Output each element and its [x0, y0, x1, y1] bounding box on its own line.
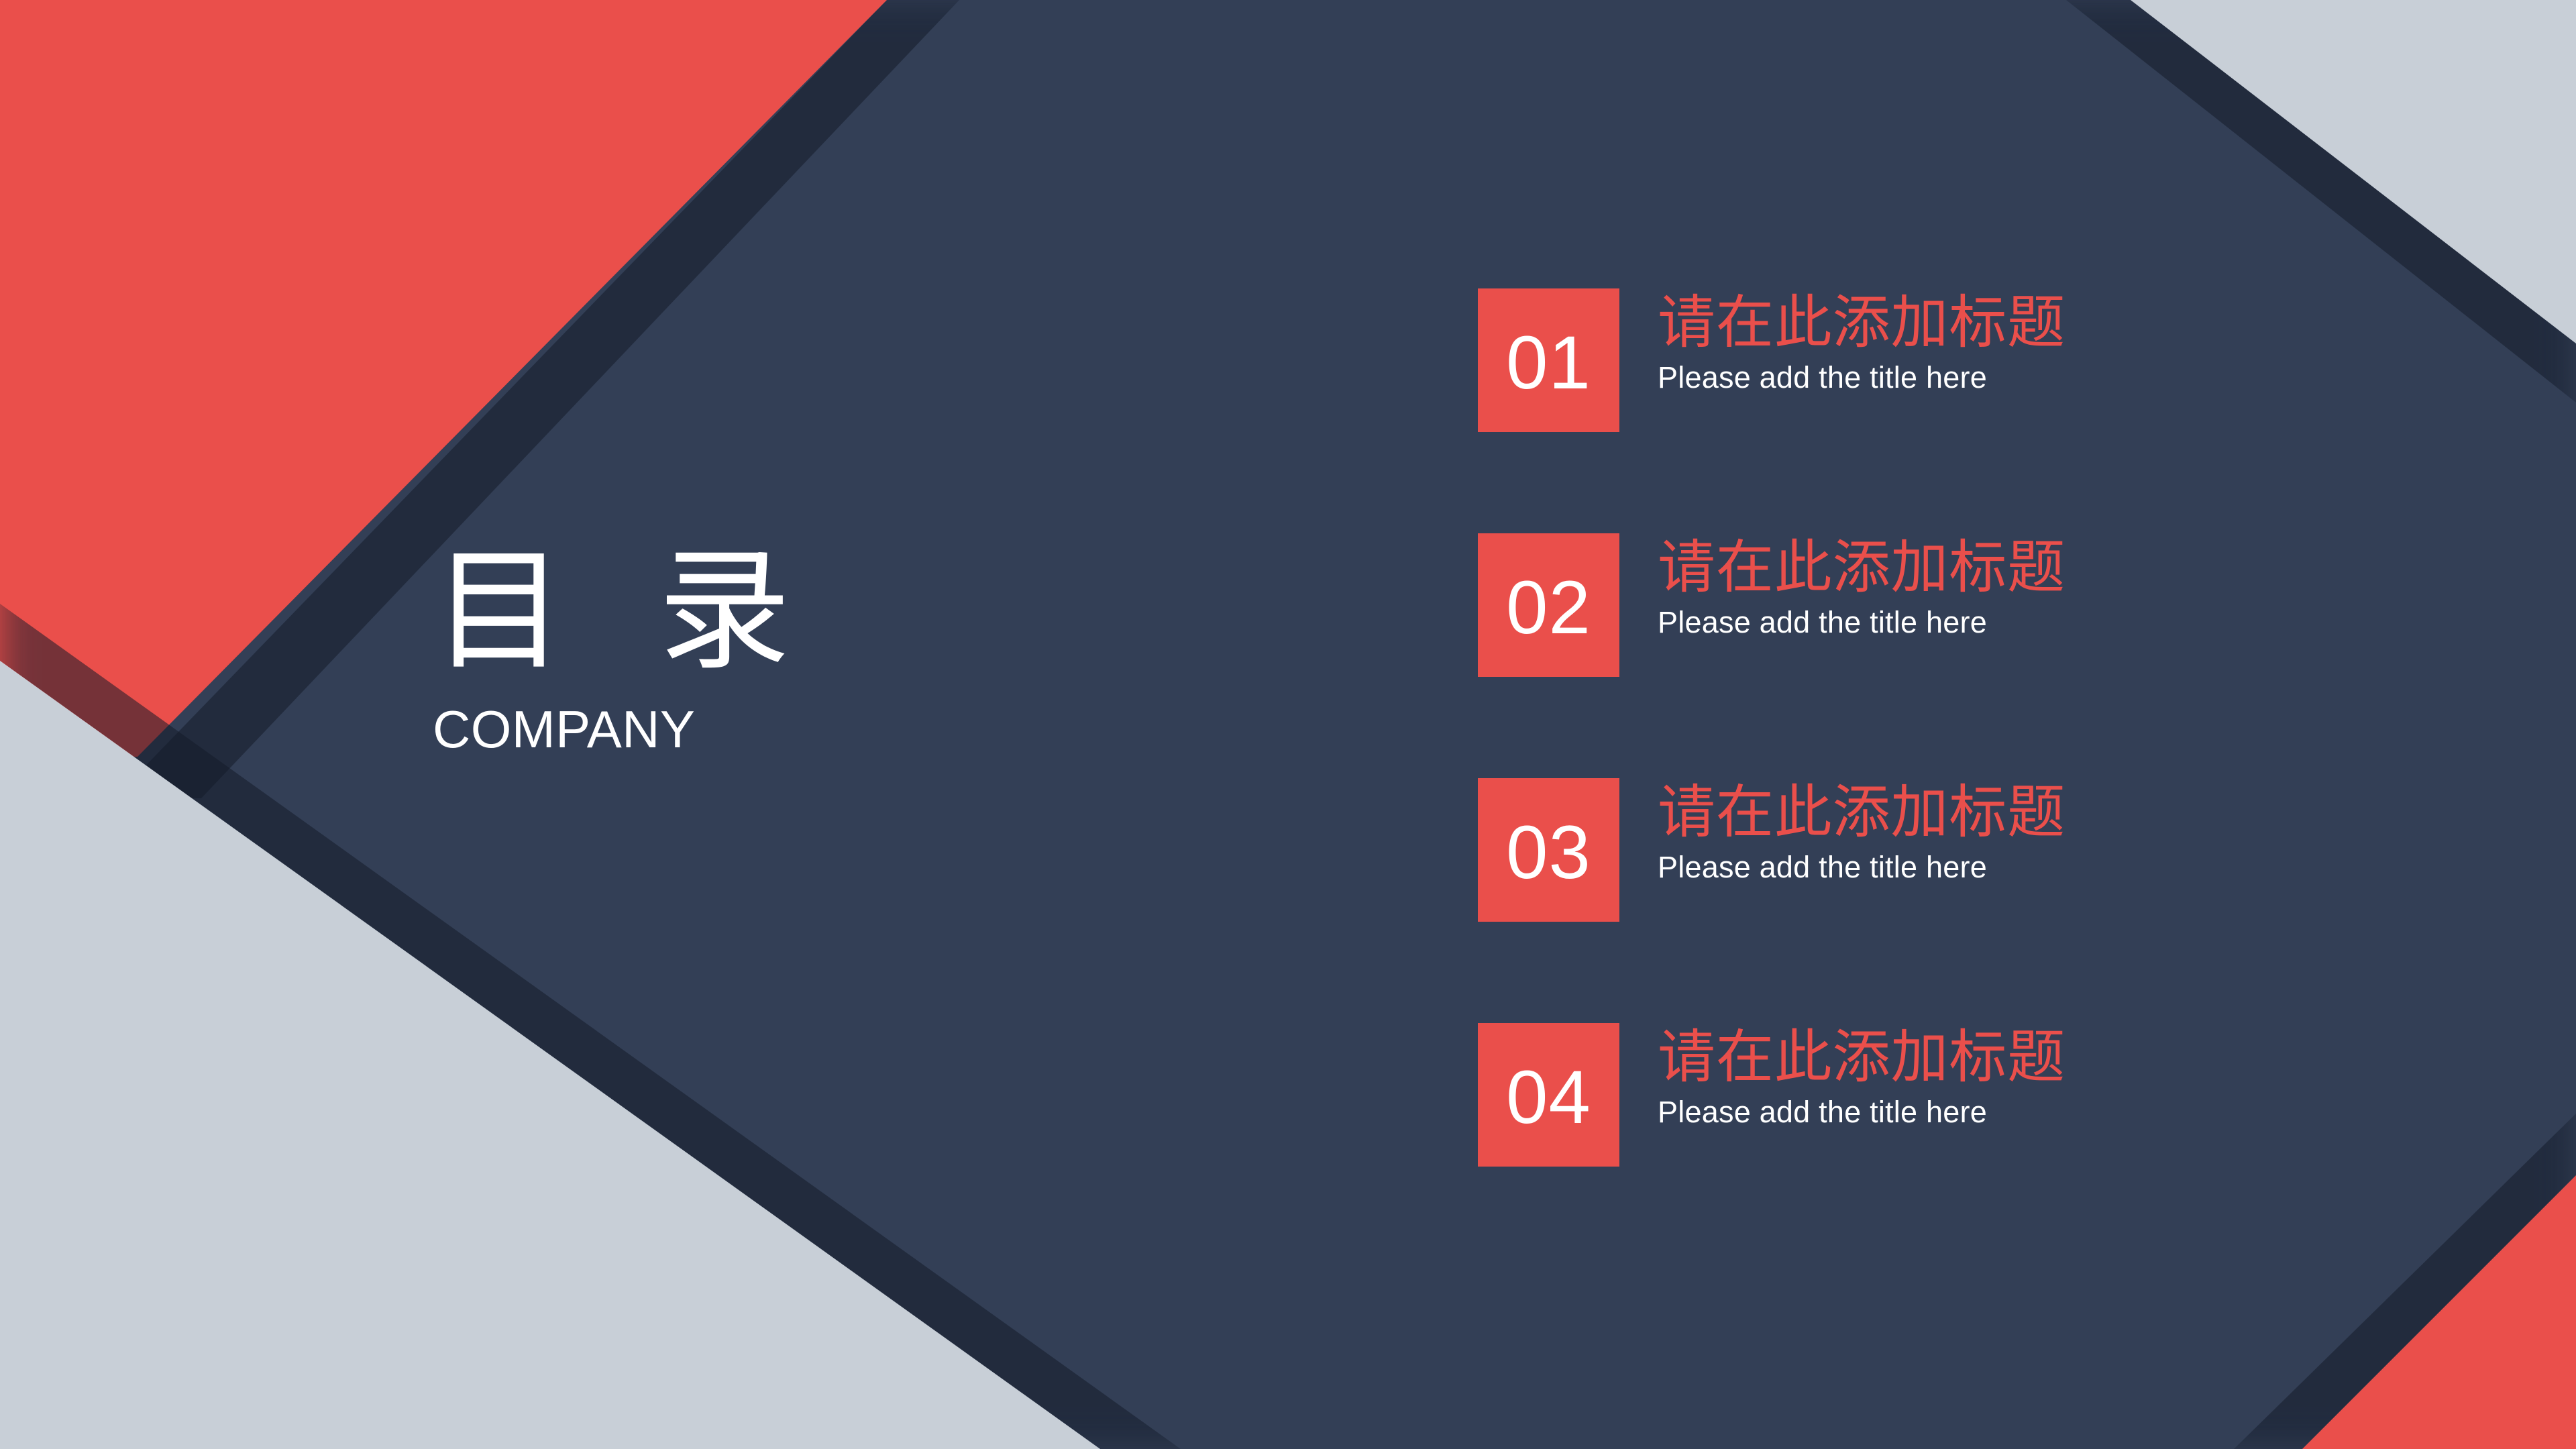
- agenda-title-cn-04: 请在此添加标题: [1658, 1027, 2065, 1087]
- agenda-number-04: 04: [1506, 1060, 1591, 1135]
- agenda-number-03: 03: [1506, 815, 1591, 890]
- agenda-text-04: 请在此添加标题 Please add the title here: [1658, 1023, 2065, 1129]
- agenda-title-cn-02: 请在此添加标题: [1658, 537, 2065, 598]
- slide-canvas: 目 录 COMPANY 01 请在此添加标题 Please add the ti…: [0, 0, 2576, 1449]
- background-decor-layer: [0, 0, 2576, 1449]
- agenda-number-badge-01: 01: [1478, 288, 1619, 432]
- agenda-item-02[interactable]: 02 请在此添加标题 Please add the title here: [1478, 533, 2065, 677]
- agenda-text-01: 请在此添加标题 Please add the title here: [1658, 288, 2065, 394]
- agenda-number-badge-04: 04: [1478, 1023, 1619, 1167]
- page-title-cn: 目 录: [433, 545, 794, 678]
- agenda-title-en-02: Please add the title here: [1658, 606, 2065, 639]
- agenda-item-04[interactable]: 04 请在此添加标题 Please add the title here: [1478, 1023, 2065, 1167]
- agenda-text-02: 请在此添加标题 Please add the title here: [1658, 533, 2065, 639]
- page-title-en: COMPANY: [433, 703, 794, 755]
- agenda-number-badge-02: 02: [1478, 533, 1619, 677]
- agenda-text-03: 请在此添加标题 Please add the title here: [1658, 778, 2065, 884]
- agenda-title-en-04: Please add the title here: [1658, 1095, 2065, 1129]
- agenda-item-01[interactable]: 01 请在此添加标题 Please add the title here: [1478, 288, 2065, 432]
- slide-title-block: 目 录 COMPANY: [433, 545, 794, 755]
- agenda-number-badge-03: 03: [1478, 778, 1619, 922]
- agenda-title-cn-01: 请在此添加标题: [1658, 292, 2065, 353]
- agenda-list: 01 请在此添加标题 Please add the title here 02 …: [1478, 288, 2065, 1167]
- agenda-item-03[interactable]: 03 请在此添加标题 Please add the title here: [1478, 778, 2065, 922]
- agenda-title-en-03: Please add the title here: [1658, 851, 2065, 884]
- agenda-title-en-01: Please add the title here: [1658, 361, 2065, 394]
- agenda-number-02: 02: [1506, 570, 1591, 645]
- agenda-number-01: 01: [1506, 325, 1591, 400]
- agenda-title-cn-03: 请在此添加标题: [1658, 782, 2065, 843]
